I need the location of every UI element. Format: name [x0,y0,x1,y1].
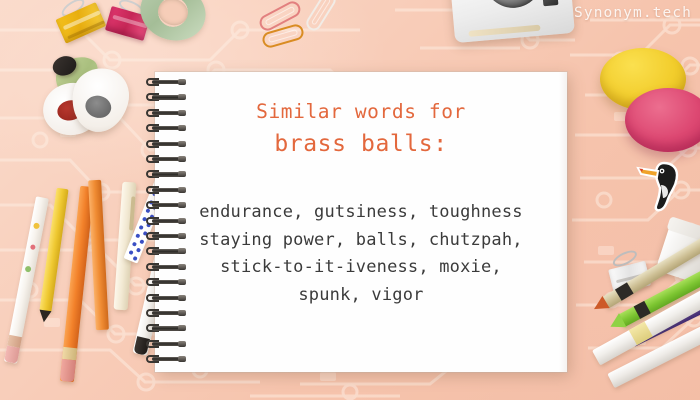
spiral-ring [146,278,190,286]
spiral-ring [146,170,190,178]
spiral-ring [146,140,190,148]
spiral-ring [146,201,190,209]
toucan-sticker [634,155,686,213]
spiral-ring [146,247,190,255]
synonym-line: stick-to-it-iveness, moxie, [199,254,522,282]
camera-flash [542,0,558,6]
spiral-ring [146,294,190,302]
notebook-spiral-binding [146,74,192,370]
spiral-ring [146,309,190,317]
spiral-ring [146,263,190,271]
site-watermark: Synonym.tech [574,5,692,21]
pen-dot [128,250,133,255]
pen-dot [136,248,141,253]
page-title: Similar words for [256,100,466,124]
spiral-ring [146,155,190,163]
camera-lens [482,0,545,10]
notebook-page: Similar words for brass balls: endurance… [155,72,567,372]
pen-dot [135,233,140,238]
spiral-ring [146,324,190,332]
spiral-ring [146,78,190,86]
pen-dot [133,256,138,261]
synonym-line: staying power, balls, chutzpah, [199,227,522,255]
spiral-ring [146,124,190,132]
pen-dot [139,239,144,244]
camera-grip [468,25,540,37]
spiral-ring [146,93,190,101]
spiral-ring [146,217,190,225]
spiral-ring [146,232,190,240]
spiral-ring [146,109,190,117]
spiral-ring [146,355,190,363]
spiral-ring [146,340,190,348]
spiral-ring [146,186,190,194]
pen-dot [131,241,136,246]
page-subject: brass balls: [274,130,447,160]
synonym-line: endurance, gutsiness, toughness [199,199,522,227]
pen-dot [138,225,143,230]
page-content: Similar words for brass balls: endurance… [155,72,567,372]
synonym-line: spunk, vigor [199,282,522,310]
synonym-list: endurance, gutsiness, toughness staying … [199,199,522,309]
